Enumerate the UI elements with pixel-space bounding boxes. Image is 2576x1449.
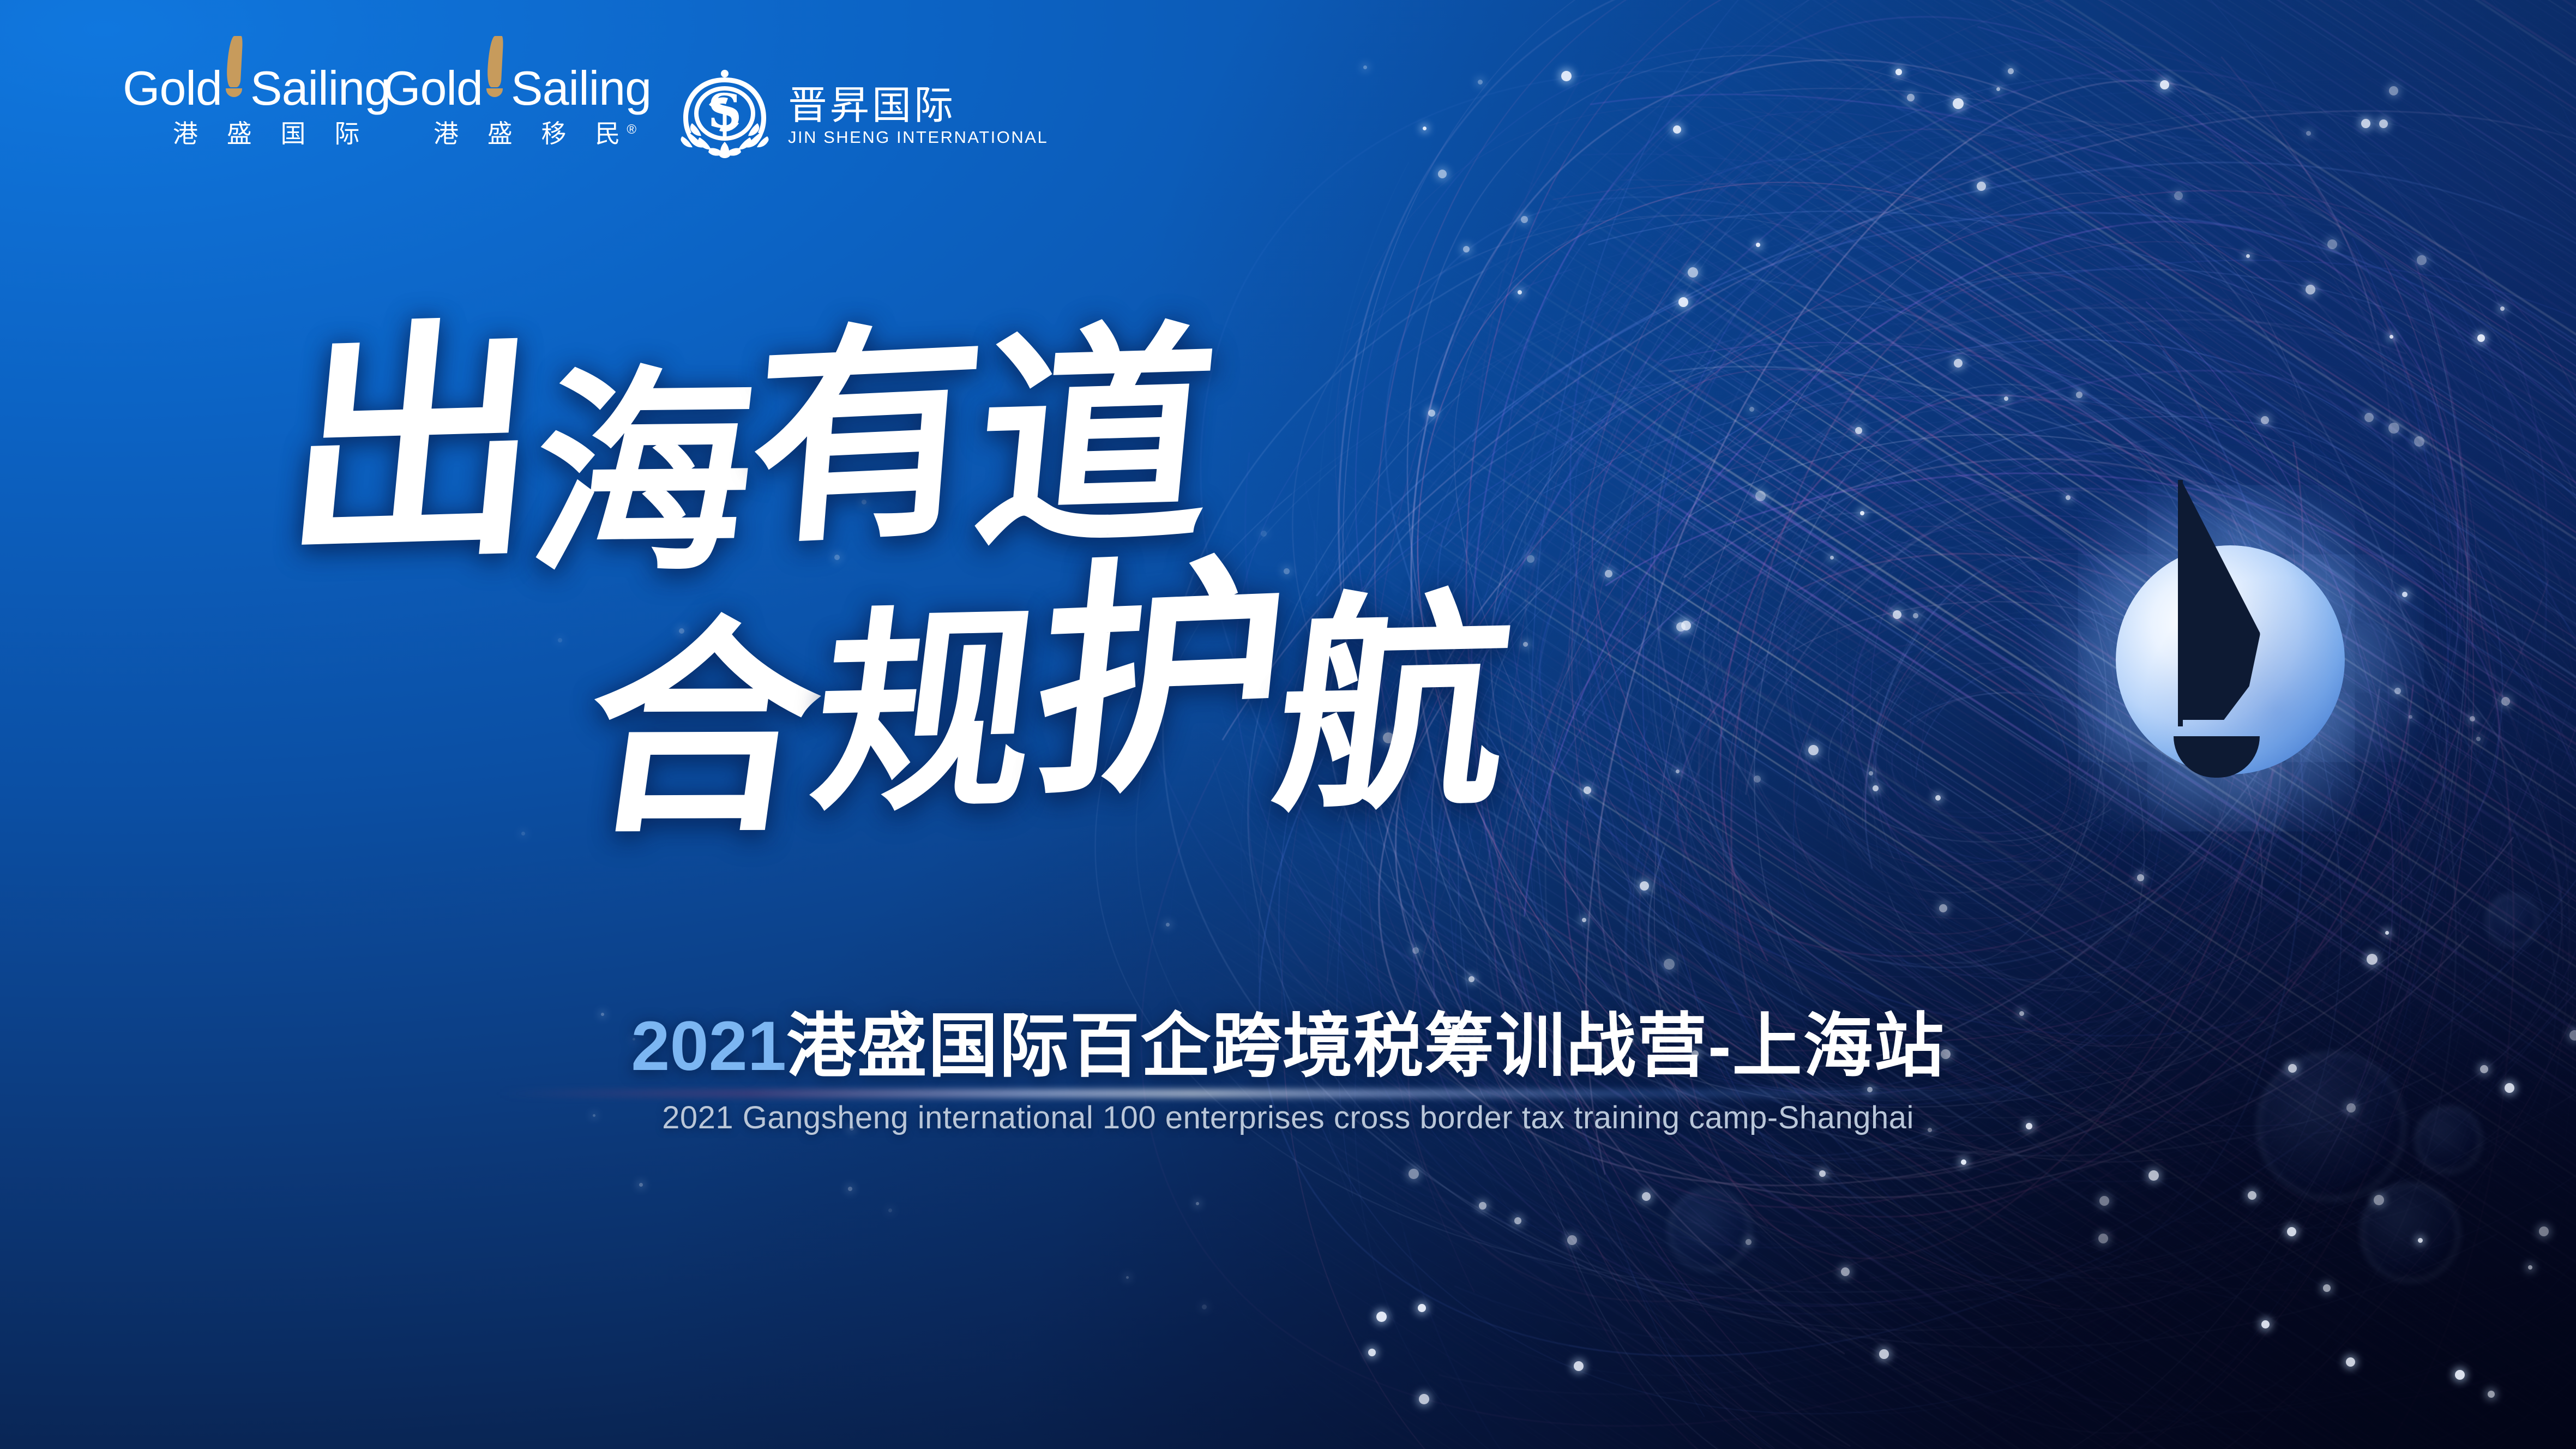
logo-word-sailing: Sailing bbox=[511, 64, 651, 112]
calligraphy-line-2: 合规护航 bbox=[578, 575, 1522, 813]
calligraphy-char: 道 bbox=[968, 333, 1219, 546]
calligraphy-char: 护 bbox=[1025, 566, 1295, 793]
subtitle-block: 2021港盛国际百企跨境税筹训战营-上海站 2021 Gangsheng int… bbox=[0, 1006, 2576, 1134]
subtitle-chinese: 2021港盛国际百企跨境税筹训战营-上海站 bbox=[0, 1006, 2576, 1087]
logo-jin-sheng-international[interactable]: S bbox=[676, 67, 1048, 165]
subtitle-year: 2021 bbox=[631, 1007, 786, 1085]
calligraphy-char: 航 bbox=[1267, 603, 1519, 809]
registered-trademark-icon: ® bbox=[627, 122, 636, 137]
logo-word-gold: Gold bbox=[383, 64, 483, 112]
sailboat-icon bbox=[223, 36, 242, 100]
subtitle-chinese-text: 港盛国际百企跨境税筹训战营-上海站 bbox=[786, 1007, 1945, 1085]
calligraphy-char: 合 bbox=[574, 629, 829, 831]
logo-chinese-text: 港 盛 移 民 bbox=[434, 119, 631, 148]
calligraphy-line-1: 出海有道 bbox=[278, 312, 1221, 559]
gold-sailing-wordmark: Gold Sailing bbox=[383, 64, 634, 112]
logo-word-gold: Gold bbox=[123, 64, 222, 112]
main-title-block: 出海有道 合规护航 bbox=[273, 316, 1745, 1014]
logo-chinese-name: 港 盛 国 际 bbox=[123, 121, 374, 146]
logo-bar: Gold Sailing 港 盛 国 际 Gold Sailing 港 盛 移 … bbox=[123, 64, 1048, 165]
logo-gold-sailing-international[interactable]: Gold Sailing 港 盛 国 际 bbox=[123, 64, 374, 146]
jin-sheng-english-name: JIN SHENG INTERNATIONAL bbox=[788, 129, 1048, 146]
logo-chinese-name: 港 盛 移 民® bbox=[383, 121, 634, 146]
sail-hull bbox=[486, 88, 503, 97]
jin-sheng-chinese-name: 晋昇国际 bbox=[788, 86, 1048, 125]
subtitle-english: 2021 Gangsheng international 100 enterpr… bbox=[0, 1102, 2576, 1134]
sailboat-silhouette-icon bbox=[2131, 480, 2295, 785]
boat-sail bbox=[2181, 480, 2260, 720]
logo-word-sailing: Sailing bbox=[250, 64, 390, 112]
jin-sheng-text-block: 晋昇国际 JIN SHENG INTERNATIONAL bbox=[788, 86, 1048, 146]
sail-canvas bbox=[487, 36, 504, 87]
calligraphy-char: 规 bbox=[805, 614, 1045, 810]
gold-sailing-wordmark: Gold Sailing bbox=[123, 64, 374, 112]
poster-canvas: Gold Sailing 港 盛 国 际 Gold Sailing 港 盛 移 … bbox=[0, 0, 2576, 1449]
calligraphy-char: 有 bbox=[744, 331, 986, 543]
sailboat-icon bbox=[484, 36, 502, 100]
sail-canvas bbox=[226, 36, 243, 87]
laurel-crest-s-monogram-icon: S bbox=[676, 67, 774, 165]
calligraphy-char: 出 bbox=[275, 294, 551, 596]
logo-gold-sailing-immigration[interactable]: Gold Sailing 港 盛 移 民® bbox=[383, 64, 634, 146]
sail-hull bbox=[226, 88, 242, 97]
boat-hull bbox=[2174, 736, 2260, 778]
calligraphy-char: 海 bbox=[523, 377, 760, 571]
